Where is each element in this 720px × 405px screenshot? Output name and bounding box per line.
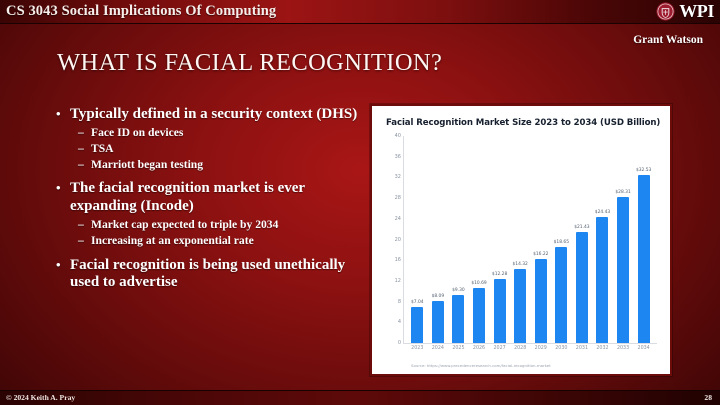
bar: [514, 269, 526, 343]
bar-value-label: $18.65: [554, 240, 569, 245]
bar-column: $18.652030: [551, 136, 572, 343]
bullet-level2: –Market cap expected to triple by 2034: [78, 218, 368, 232]
bullet-level2: –TSA: [78, 142, 368, 156]
bar-value-label: $8.09: [432, 294, 445, 299]
bar: [452, 295, 464, 343]
bar: [432, 301, 444, 343]
y-axis-tick-label: 36: [395, 154, 401, 160]
dash-marker-icon: –: [78, 234, 91, 248]
chart-card: Facial Recognition Market Size 2023 to 2…: [370, 104, 672, 376]
bullet-level2: –Face ID on devices: [78, 126, 368, 140]
slide-footer: © 2024 Keith A. Pray 28: [0, 390, 720, 405]
page-number: 28: [704, 393, 712, 402]
bullet-level1: •The facial recognition market is ever e…: [56, 180, 368, 215]
bar: [535, 259, 547, 343]
y-axis-tick-label: 40: [395, 133, 401, 139]
y-axis-tick-label: 24: [395, 216, 401, 222]
bar-column: $28.312033: [613, 136, 634, 343]
bullet-text: Facial recognition is being used unethic…: [70, 257, 368, 292]
bar-value-label: $16.22: [533, 252, 548, 257]
bar-value-label: $12.28: [492, 272, 507, 277]
x-axis-tick-label: 2025: [452, 346, 464, 351]
bar-column: $21.432031: [572, 136, 593, 343]
x-axis-tick-label: 2023: [411, 346, 423, 351]
bullet-level2: –Increasing at an exponential rate: [78, 234, 368, 248]
presenter-name: Grant Watson: [633, 34, 703, 46]
wpi-seal-icon: [656, 2, 675, 21]
bullet-marker-icon: •: [56, 106, 70, 122]
bar-value-label: $21.43: [574, 225, 589, 230]
bar: [473, 288, 485, 343]
bar-column: $12.282027: [489, 136, 510, 343]
bar: [596, 217, 608, 343]
bar-column: $16.222029: [530, 136, 551, 343]
bar-value-label: $7.04: [411, 300, 424, 305]
dash-marker-icon: –: [78, 218, 91, 232]
bar-column: $24.432032: [592, 136, 613, 343]
bullet-group: •Typically defined in a security context…: [56, 106, 368, 171]
bullet-subtext: Marriott began testing: [91, 158, 368, 172]
chart-plot-area: 4036322824201612840 $7.042023$8.092024$9…: [383, 134, 659, 360]
bar-value-label: $9.30: [452, 288, 465, 293]
x-axis-tick-label: 2027: [493, 346, 505, 351]
x-axis-tick-label: 2031: [576, 346, 588, 351]
bar-column: $7.042023: [407, 136, 428, 343]
bullet-group: •The facial recognition market is ever e…: [56, 180, 368, 247]
x-axis-tick-label: 2024: [432, 346, 444, 351]
bullet-level1: •Typically defined in a security context…: [56, 106, 368, 124]
dash-marker-icon: –: [78, 142, 91, 156]
dash-marker-icon: –: [78, 126, 91, 140]
y-axis-tick-label: 12: [395, 278, 401, 284]
y-axis-tick-label: 0: [398, 340, 401, 346]
bullet-marker-icon: •: [56, 180, 70, 196]
dash-marker-icon: –: [78, 158, 91, 172]
course-title: CS 3043 Social Implications Of Computing: [0, 3, 276, 20]
y-axis-tick-label: 28: [395, 195, 401, 201]
x-axis-tick-label: 2028: [514, 346, 526, 351]
bar-series: $7.042023$8.092024$9.302025$10.692026$12…: [404, 136, 657, 343]
bullet-level2: –Marriott began testing: [78, 158, 368, 172]
bar: [638, 175, 650, 343]
bar: [411, 307, 423, 343]
y-axis-tick-label: 4: [398, 319, 401, 325]
bullet-text: Typically defined in a security context …: [70, 106, 368, 124]
bullet-subtext: TSA: [91, 142, 368, 156]
bar-value-label: $10.69: [471, 281, 486, 286]
chart-title: Facial Recognition Market Size 2023 to 2…: [386, 118, 661, 128]
y-axis-tick-label: 8: [398, 299, 401, 305]
bullet-text: The facial recognition market is ever ex…: [70, 180, 368, 215]
bar-value-label: $28.31: [615, 190, 630, 195]
bar: [555, 247, 567, 344]
bullet-subtext: Increasing at an exponential rate: [91, 234, 368, 248]
bullet-marker-icon: •: [56, 257, 70, 273]
bullet-subtext: Face ID on devices: [91, 126, 368, 140]
slide-canvas: CS 3043 Social Implications Of Computing…: [0, 0, 720, 405]
chart-axes: 4036322824201612840 $7.042023$8.092024$9…: [403, 136, 657, 344]
bar-column: $10.692026: [469, 136, 490, 343]
bullet-list: •Typically defined in a security context…: [56, 106, 368, 299]
wpi-logo: WPI: [656, 1, 714, 22]
bullet-subtext: Market cap expected to triple by 2034: [91, 218, 368, 232]
bar-column: $32.532034: [633, 136, 654, 343]
y-axis-tick-label: 20: [395, 237, 401, 243]
x-axis-tick-label: 2026: [473, 346, 485, 351]
wpi-wordmark: WPI: [679, 1, 714, 22]
bar-column: $9.302025: [448, 136, 469, 343]
bar: [576, 232, 588, 343]
slide-header-banner: CS 3043 Social Implications Of Computing…: [0, 0, 720, 24]
bar-value-label: $14.32: [512, 262, 527, 267]
x-axis-tick-label: 2030: [555, 346, 567, 351]
x-axis-tick-label: 2034: [638, 346, 650, 351]
page-title: WHAT IS FACIAL RECOGNITION?: [57, 49, 442, 77]
bar-value-label: $24.43: [595, 210, 610, 215]
bullet-group: •Facial recognition is being used unethi…: [56, 257, 368, 292]
x-axis-tick-label: 2029: [535, 346, 547, 351]
y-axis-tick-label: 16: [395, 257, 401, 263]
bar-column: $14.322028: [510, 136, 531, 343]
bar-column: $8.092024: [428, 136, 449, 343]
chart-source-note: Source: https://www.precedenceresearch.c…: [411, 363, 661, 368]
y-axis-tick-label: 32: [395, 174, 401, 180]
bar-value-label: $32.53: [636, 168, 651, 173]
x-axis-tick-label: 2032: [596, 346, 608, 351]
bullet-level1: •Facial recognition is being used unethi…: [56, 257, 368, 292]
bar: [617, 197, 629, 344]
bar: [494, 279, 506, 343]
copyright-text: © 2024 Keith A. Pray: [6, 393, 75, 402]
x-axis-tick-label: 2033: [617, 346, 629, 351]
